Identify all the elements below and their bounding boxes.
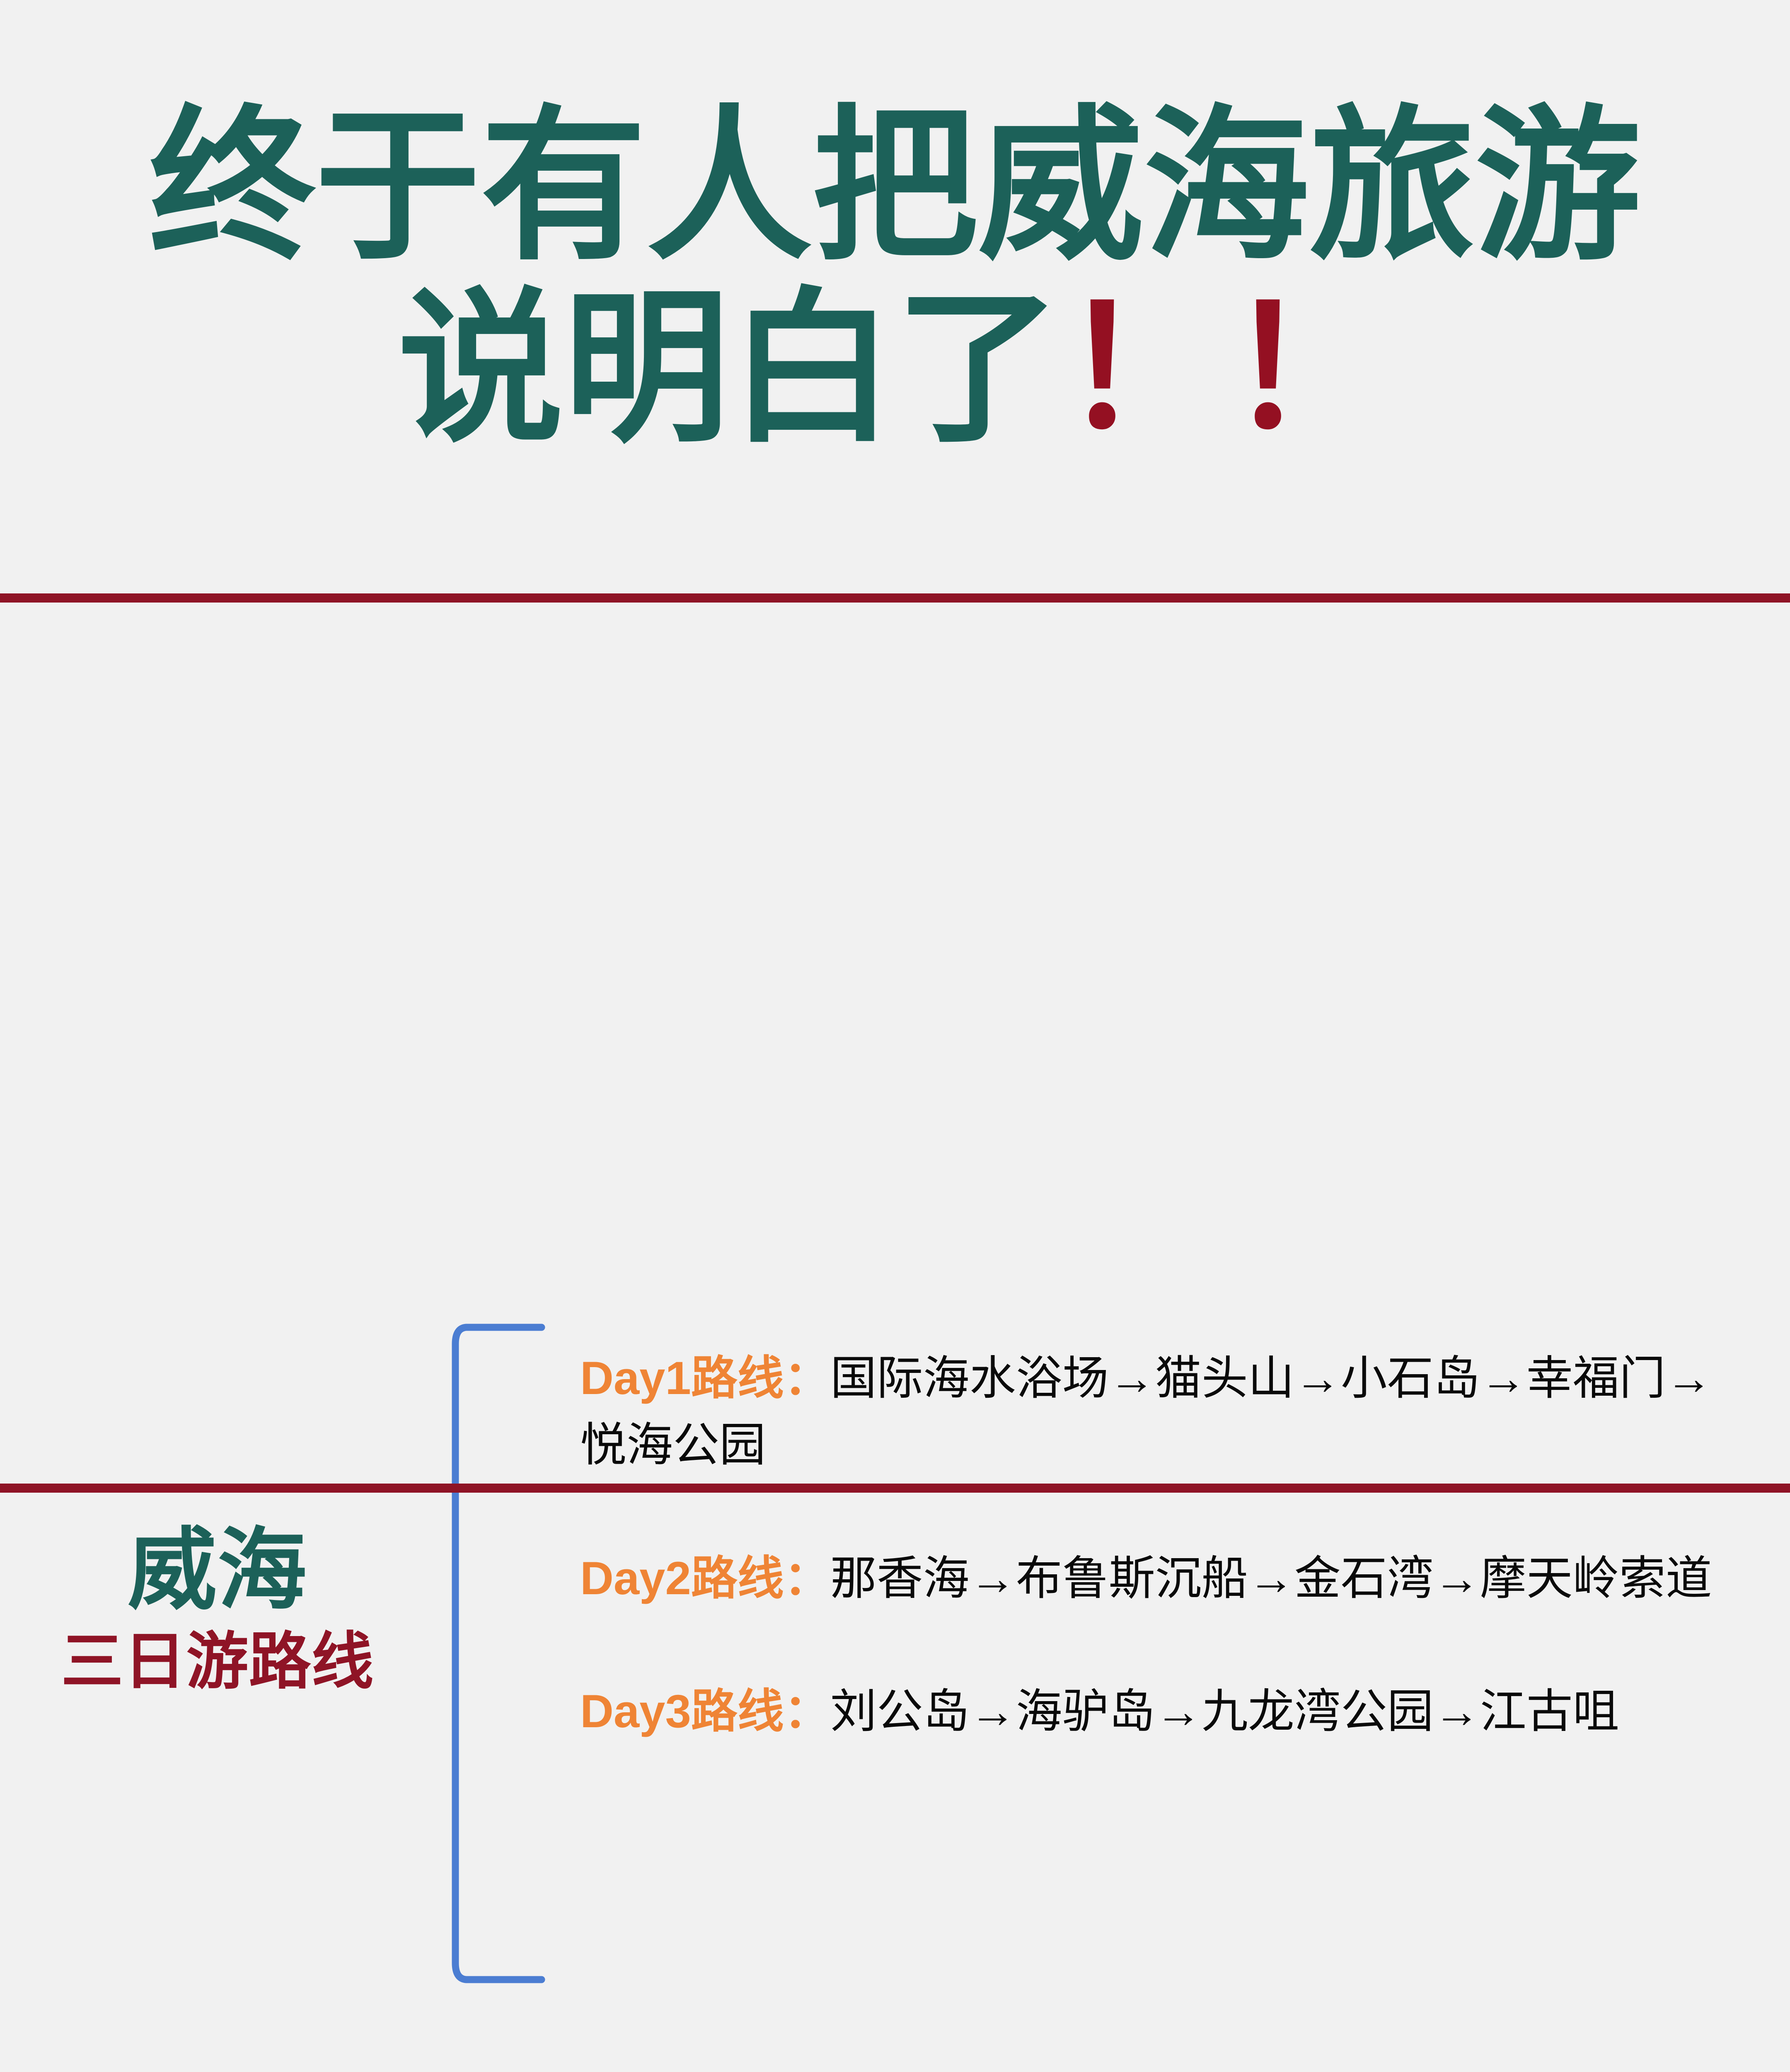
section-divider-bottom xyxy=(0,1484,1790,1493)
section-stay-areas: 威海 三日游路线 国际海水浴场周边：下楼就是大海，离火炬八街很近，高端海景房比较… xyxy=(0,1493,1790,2072)
route-item-day1-key: Day1路线： xyxy=(580,1352,830,1404)
page-title-line-2-text: 说明白了 xyxy=(398,276,1061,461)
section-routes: 威海 三日游路线 Day1路线：国际海水浴场→猫头山→小石岛→幸福门→悦海公园 … xyxy=(0,603,1790,1484)
title-exclamation-marks: ！！ xyxy=(1061,286,1392,452)
section-divider-top xyxy=(0,593,1790,603)
title-block: 终于有人把威海旅游 说明白了！！ xyxy=(0,0,1790,597)
page-title-line-1: 终于有人把威海旅游 xyxy=(0,104,1790,269)
route-item-day1: Day1路线：国际海水浴场→猫头山→小石岛→幸福门→悦海公园 xyxy=(580,1345,1740,1479)
page-title-line-2: 说明白了！！ xyxy=(0,286,1790,452)
